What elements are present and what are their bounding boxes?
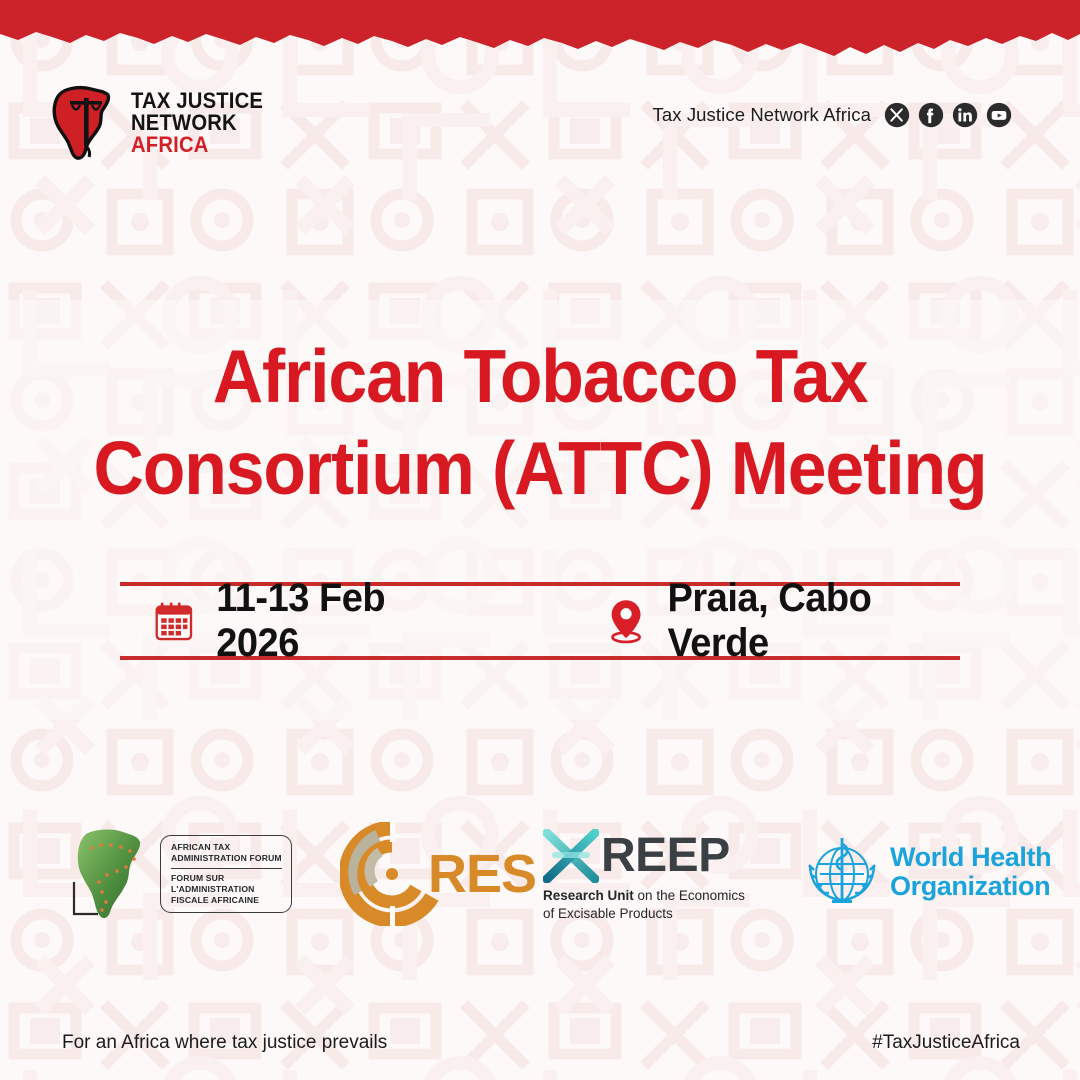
- partner-logo-reep: REEP Research Unit on the Economics of E…: [543, 828, 745, 923]
- tjn-africa-logo: TAX JUSTICE NETWORK AFRICA: [44, 82, 275, 164]
- ataf-fr-line2: L'ADMINISTRATION: [171, 884, 282, 895]
- social-links: Tax Justice Network Africa: [652, 102, 1012, 128]
- ataf-africa-map-icon: [68, 826, 154, 922]
- ataf-fr-line3: FISCALE AFRICAINE: [171, 895, 282, 906]
- ataf-en-line2: ADMINISTRATION FORUM: [171, 853, 282, 864]
- reep-wordmark: REEP: [601, 828, 730, 883]
- reep-sub-line1: Research Unit on the Economics: [543, 887, 745, 905]
- x-twitter-icon[interactable]: [884, 102, 910, 128]
- event-meta-bar: 11-13 Feb 2026 Praia, Cabo Verde: [120, 582, 960, 660]
- ataf-divider: [171, 868, 282, 869]
- reep-sub-rest: on the Economics: [634, 888, 745, 903]
- ataf-fr-line1: FORUM SUR: [171, 873, 282, 884]
- tjn-africa-wordmark: TAX JUSTICE NETWORK AFRICA: [131, 90, 275, 156]
- who-emblem-icon: [802, 832, 882, 912]
- reep-subtitle: Research Unit on the Economics of Excisa…: [543, 887, 745, 923]
- reep-top-row: REEP: [543, 828, 730, 883]
- social-handle-label: Tax Justice Network Africa: [652, 104, 871, 126]
- page-header: TAX JUSTICE NETWORK AFRICA Tax Justice N…: [0, 0, 1080, 190]
- partner-logo-cres: RES: [340, 822, 536, 926]
- event-date-text: 11-13 Feb 2026: [216, 576, 452, 666]
- facebook-icon[interactable]: [918, 102, 944, 128]
- calendar-icon: [154, 598, 194, 644]
- africa-scales-logo-icon: [44, 82, 122, 164]
- who-line-1: World Health: [890, 843, 1051, 872]
- who-wordmark: World Health Organization: [890, 843, 1051, 900]
- event-date-group: 11-13 Feb 2026: [154, 576, 458, 666]
- logo-line-1: TAX JUSTICE: [131, 90, 263, 112]
- footer-hashtag: #TaxJusticeAfrica: [872, 1032, 1020, 1054]
- ataf-en-line1: AFRICAN TAX: [171, 842, 282, 853]
- cres-wordmark: RES: [428, 843, 536, 905]
- footer-tagline: For an Africa where tax justice prevails: [62, 1032, 387, 1054]
- event-title: African Tobacco Tax Consortium (ATTC) Me…: [0, 330, 1080, 515]
- title-line-2: Consortium (ATTC) Meeting: [38, 422, 1042, 514]
- location-pin-icon: [608, 596, 644, 646]
- logo-line-2: NETWORK: [131, 112, 263, 134]
- youtube-icon[interactable]: [986, 102, 1012, 128]
- event-venue-group: Praia, Cabo Verde: [608, 576, 960, 666]
- ataf-text-box: AFRICAN TAX ADMINISTRATION FORUM FORUM S…: [160, 835, 292, 912]
- reep-sub-line2: of Excisable Products: [543, 905, 745, 923]
- partner-logo-row: AFRICAN TAX ADMINISTRATION FORUM FORUM S…: [0, 818, 1080, 928]
- linkedin-icon[interactable]: [952, 102, 978, 128]
- title-line-1: African Tobacco Tax: [38, 330, 1042, 422]
- reep-sub-bold: Research Unit: [543, 888, 634, 903]
- partner-logo-ataf: AFRICAN TAX ADMINISTRATION FORUM FORUM S…: [68, 826, 292, 922]
- reep-x-mark-icon: [543, 829, 599, 883]
- who-line-2: Organization: [890, 872, 1051, 901]
- event-venue-text: Praia, Cabo Verde: [668, 576, 953, 666]
- partner-logo-who: World Health Organization: [802, 832, 1051, 912]
- logo-line-3: AFRICA: [131, 134, 263, 156]
